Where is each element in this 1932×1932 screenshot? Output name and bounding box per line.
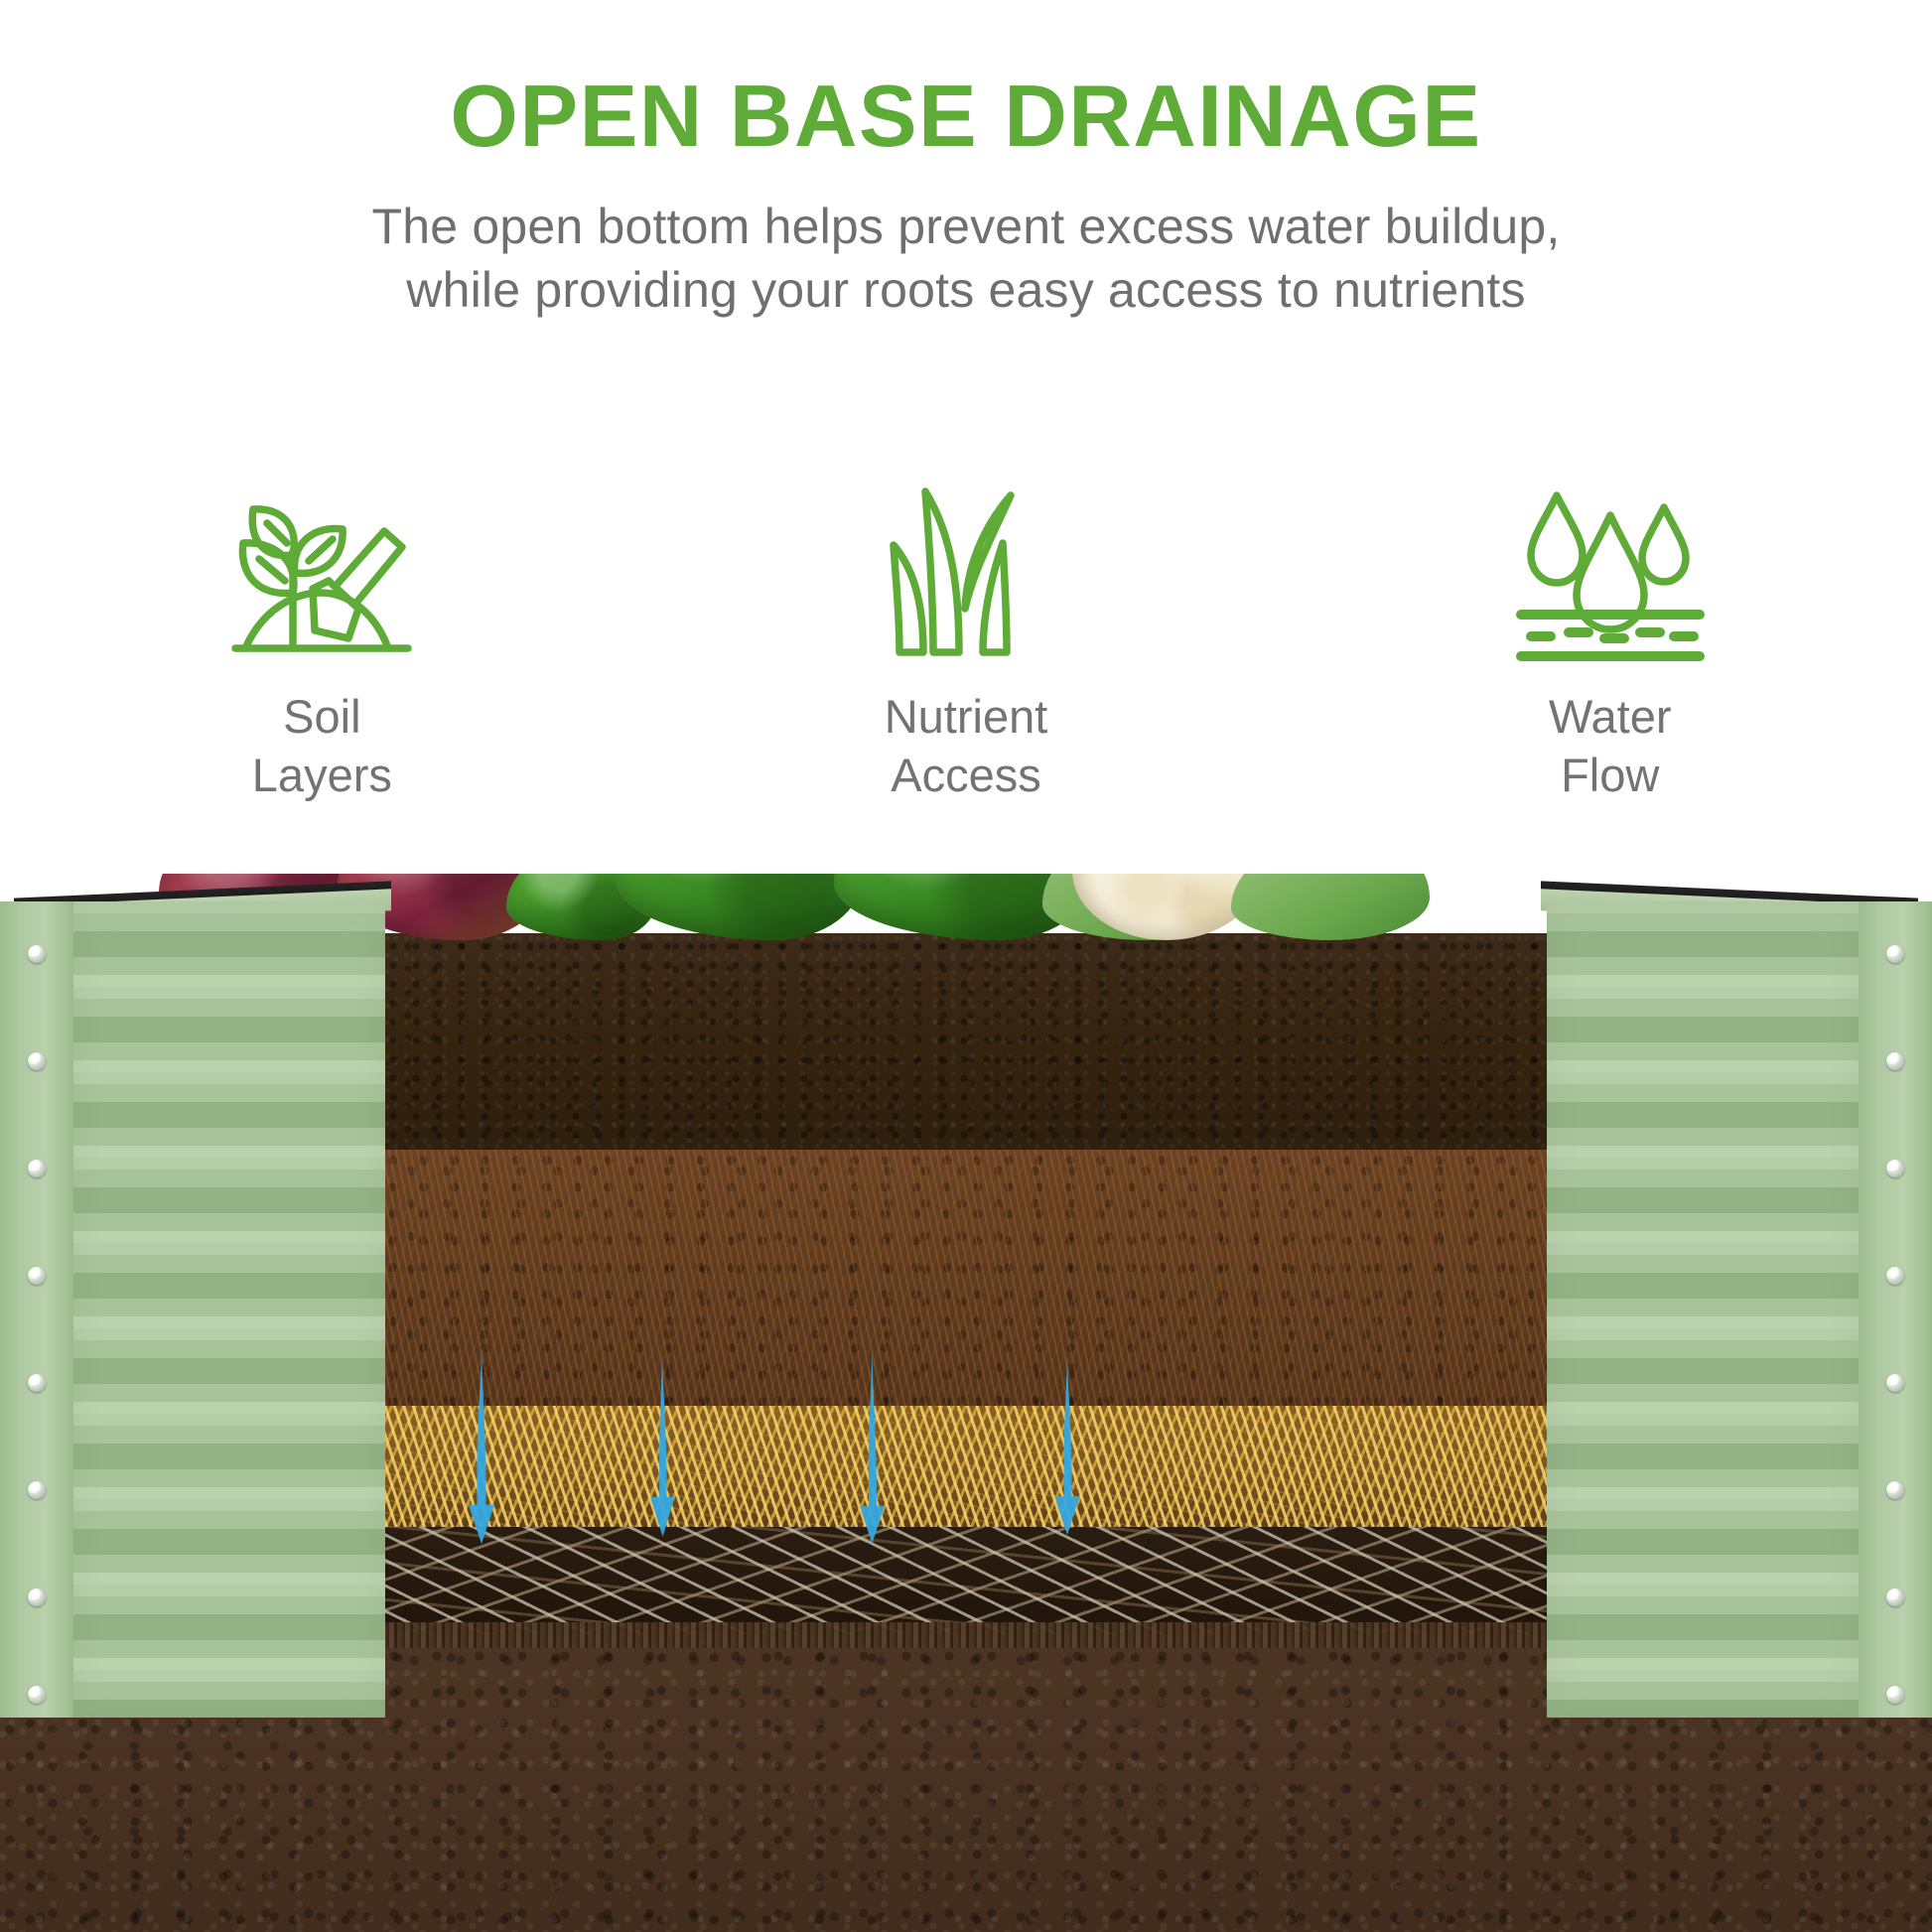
screw-icon bbox=[1886, 1481, 1904, 1499]
subtitle-line-2: while providing your roots easy access t… bbox=[0, 258, 1932, 322]
screw-icon bbox=[28, 1481, 46, 1499]
screw-icon bbox=[28, 1160, 46, 1177]
screw-icon bbox=[1886, 1588, 1904, 1606]
plant-shovel-soil-icon bbox=[217, 482, 426, 665]
feature-label-line-2: Access bbox=[885, 746, 1048, 804]
screw-icon bbox=[28, 1686, 46, 1704]
feature-label-line-2: Flow bbox=[1549, 746, 1672, 804]
page-title: OPEN BASE DRAINAGE bbox=[0, 71, 1932, 161]
screw-icon bbox=[1886, 1374, 1904, 1392]
screw-icon bbox=[1886, 1160, 1904, 1177]
water-drainage-arrow bbox=[1050, 1086, 1084, 1786]
screw-icon bbox=[28, 1052, 46, 1070]
screw-icon bbox=[1886, 1052, 1904, 1070]
feature-label-water-flow: Water Flow bbox=[1549, 687, 1672, 804]
screw-icon bbox=[1886, 1267, 1904, 1285]
water-droplets-permeable-layer-icon bbox=[1513, 482, 1707, 665]
grass-blades-icon bbox=[880, 482, 1053, 665]
feature-row: Soil Layers Nutrient Access bbox=[0, 482, 1932, 730]
feature-label-line-1: Water bbox=[1549, 687, 1672, 746]
cauliflower-leaf bbox=[1042, 874, 1251, 940]
bed-wall-left bbox=[0, 901, 385, 1718]
garden-bed-cross-section bbox=[0, 874, 1932, 1932]
soil-layer-compost-mulch bbox=[385, 1150, 1547, 1406]
screw-icon bbox=[28, 1267, 46, 1285]
screw-icon bbox=[28, 945, 46, 963]
soil-layer-topsoil bbox=[385, 933, 1547, 1150]
feature-label-soil-layers: Soil Layers bbox=[252, 687, 392, 804]
corner-post-left bbox=[0, 901, 73, 1718]
corner-post-right bbox=[1859, 901, 1932, 1718]
corrugated-panel-left bbox=[71, 901, 385, 1718]
feature-label-nutrient-access: Nutrient Access bbox=[885, 687, 1048, 804]
plant-romaine-lettuce bbox=[834, 874, 1092, 940]
water-drainage-arrow bbox=[465, 1098, 498, 1793]
screw-icon bbox=[28, 1588, 46, 1606]
soil-layer-straw bbox=[385, 1406, 1547, 1527]
water-drainage-arrow bbox=[645, 1078, 679, 1793]
water-drainage-arrow bbox=[856, 1104, 890, 1789]
page-subtitle: The open bottom helps prevent excess wat… bbox=[0, 195, 1932, 322]
corrugated-panel-right bbox=[1547, 901, 1861, 1718]
feature-label-line-2: Layers bbox=[252, 746, 392, 804]
plant-leaf-lettuce-green bbox=[506, 874, 655, 940]
screw-icon bbox=[28, 1374, 46, 1392]
subtitle-line-1: The open bottom helps prevent excess wat… bbox=[0, 195, 1932, 258]
cauliflower-leaf bbox=[1231, 874, 1430, 940]
feature-nutrient-access: Nutrient Access bbox=[644, 482, 1289, 730]
feature-water-flow: Water Flow bbox=[1288, 482, 1932, 730]
feature-label-line-1: Soil bbox=[252, 687, 392, 746]
screw-icon bbox=[1886, 1686, 1904, 1704]
plant-cauliflower bbox=[1072, 874, 1261, 940]
bed-wall-right bbox=[1547, 901, 1932, 1718]
header: OPEN BASE DRAINAGE The open bottom helps… bbox=[0, 0, 1932, 322]
screw-icon bbox=[1886, 945, 1904, 963]
feature-label-line-1: Nutrient bbox=[885, 687, 1048, 746]
plant-romaine-lettuce bbox=[616, 874, 864, 940]
feature-soil-layers: Soil Layers bbox=[0, 482, 644, 730]
